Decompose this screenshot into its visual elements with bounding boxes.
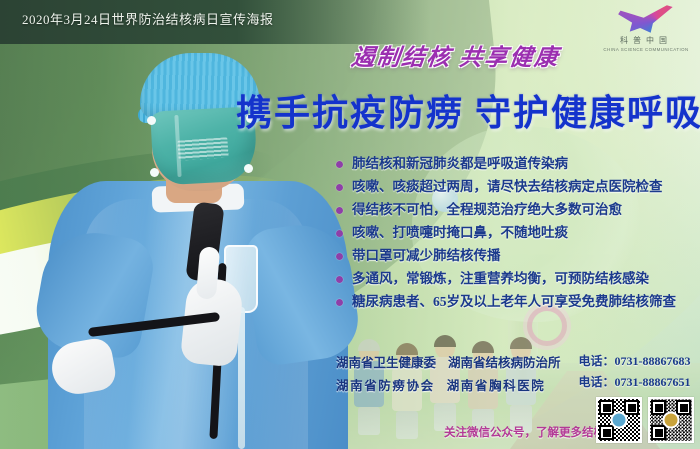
poster-slogan: 遏制结核 共享健康 (350, 38, 562, 72)
list-item: 糖尿病患者、65岁及以上老年人可享受免费肺结核筛查 (336, 294, 696, 310)
person-hair (358, 339, 380, 351)
logo-cn-text: 科普中国 (600, 35, 692, 46)
person-legs (396, 411, 418, 439)
list-item-label: 得结核不可怕，全程规范治疗绝大多数可治愈 (352, 202, 622, 218)
bullet-dot-icon (336, 161, 343, 168)
qr-finder-icon (624, 400, 639, 415)
bullet-dot-icon (336, 253, 343, 260)
bird-mark-icon (617, 4, 675, 34)
page-title: 携手抗疫防痨 守护健康呼吸 (236, 84, 700, 136)
telephone-list: 电话：0731-88867683 电话：0731-88867651 (579, 352, 691, 390)
list-item-label: 咳嗽、打喷嚏时掩口鼻，不随地吐痰 (352, 225, 568, 241)
bullet-dot-icon (336, 276, 343, 283)
telephone-number: 电话：0731-88867651 (579, 373, 691, 390)
list-item: 带口罩可减少肺结核传播 (336, 248, 696, 264)
qr-code-right[interactable] (648, 397, 694, 443)
bullet-dot-icon (336, 207, 343, 214)
organization-name: 湖南省结核病防治所 (448, 352, 561, 371)
qr-code-left[interactable] (596, 397, 642, 443)
organization-name: 湖南省卫生健康委 (336, 352, 436, 371)
qr-finder-icon (651, 400, 666, 415)
qr-finder-icon (651, 425, 666, 440)
bullet-dot-icon (336, 299, 343, 306)
list-item: 得结核不可怕，全程规范治疗绝大多数可治愈 (336, 202, 696, 218)
doctor-mask-print (177, 137, 228, 160)
bullet-dot-icon (336, 230, 343, 237)
tb-day-poster: 2020年3月24日世界防治结核病日宣传海报 科普中国 CHINA SCIENC… (0, 0, 700, 449)
person-legs (358, 407, 380, 435)
logo-en-text: CHINA SCIENCE COMMUNICATION (600, 47, 692, 52)
organization-list: 湖南省卫生健康委 湖南省结核病防治所 湖南省防痨协会 湖南省胸科医院 (336, 352, 561, 394)
list-item-label: 多通风，常锻炼，注重营养均衡，可预防结核感染 (352, 271, 649, 287)
list-item-label: 肺结核和新冠肺炎都是呼吸道传染病 (352, 156, 568, 172)
organization-row: 湖南省卫生健康委 湖南省结核病防治所 (336, 352, 561, 371)
list-item-label: 带口罩可减少肺结核传播 (352, 248, 501, 264)
qr-finder-icon (599, 400, 614, 415)
qr-finder-icon (676, 400, 691, 415)
organization-name: 湖南省胸科医院 (447, 375, 546, 394)
china-science-communication-logo: 科普中国 CHINA SCIENCE COMMUNICATION (600, 4, 692, 52)
footer-credits: 湖南省卫生健康委 湖南省结核病防治所 湖南省防痨协会 湖南省胸科医院 电话：07… (336, 352, 691, 394)
qr-finder-icon (599, 425, 614, 440)
organization-name: 湖南省防痨协会 (336, 375, 435, 394)
list-item-label: 咳嗽、咳痰超过两周，请尽快去结核病定点医院检查 (352, 179, 663, 195)
health-tips-list: 肺结核和新冠肺炎都是呼吸道传染病 咳嗽、咳痰超过两周，请尽快去结核病定点医院检查… (336, 156, 696, 317)
list-item: 肺结核和新冠肺炎都是呼吸道传染病 (336, 156, 696, 172)
person-hair (510, 337, 532, 349)
person-hair (434, 335, 456, 347)
qr-center-logo-icon (663, 412, 680, 429)
doctor-mask-strap (244, 164, 253, 173)
qr-code-group (596, 397, 694, 443)
list-item: 咳嗽、咳痰超过两周，请尽快去结核病定点医院检查 (336, 179, 696, 195)
doctor-mask-strap (147, 116, 156, 125)
qr-center-logo-icon (611, 412, 628, 429)
list-item: 咳嗽、打喷嚏时掩口鼻，不随地吐痰 (336, 225, 696, 241)
bullet-dot-icon (336, 184, 343, 191)
list-item: 多通风，常锻炼，注重营养均衡，可预防结核感染 (336, 271, 696, 287)
list-item-label: 糖尿病患者、65岁及以上老年人可享受免费肺结核筛查 (352, 294, 676, 310)
doctor-mask-strap (150, 168, 159, 177)
organization-row: 湖南省防痨协会 湖南省胸科医院 (336, 375, 561, 394)
poster-kicker: 2020年3月24日世界防治结核病日宣传海报 (22, 9, 274, 28)
telephone-number: 电话：0731-88867683 (579, 352, 691, 369)
